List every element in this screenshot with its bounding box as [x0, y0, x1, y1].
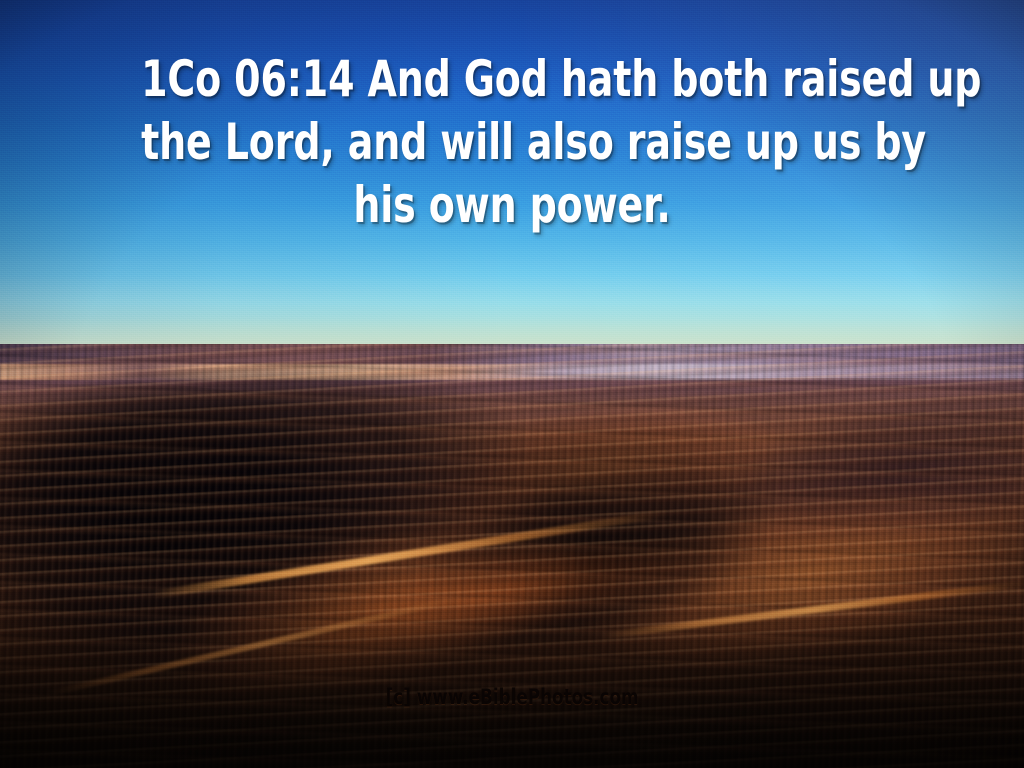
horizon-glow — [0, 276, 1024, 352]
verse-overlay: 1Co 06:14 And God hath both raised up th… — [0, 48, 1024, 237]
verse-line-1: 1Co 06:14 And God hath both raised up — [141, 48, 883, 111]
verse-line-2: the Lord, and will also raise up us by — [141, 111, 883, 174]
verse-line-3: his own power. — [141, 174, 883, 237]
rock-fluting-texture — [0, 344, 1024, 768]
photo-canvas: 1Co 06:14 And God hath both raised up th… — [0, 0, 1024, 768]
grand-canyon-landscape — [0, 344, 1024, 768]
